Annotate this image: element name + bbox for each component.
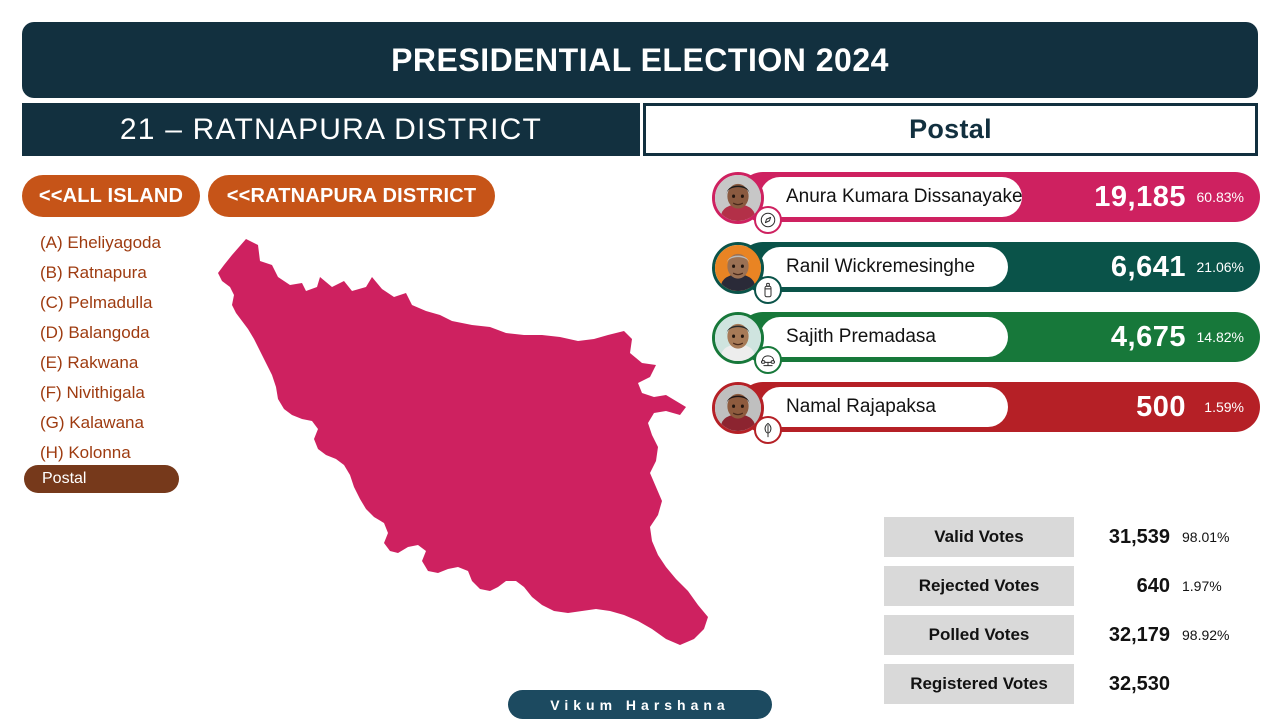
sidebar-item-postal[interactable]: Postal — [24, 465, 179, 493]
telephone-icon — [754, 346, 782, 374]
division-letter: (B) — [40, 263, 63, 282]
district-button-label: <<RATNAPURA DISTRICT — [227, 185, 477, 208]
all-island-label: <<ALL ISLAND — [39, 185, 183, 208]
division-letter: (G) — [40, 413, 65, 432]
candidate-vote-percent: 60.83% — [1196, 189, 1244, 205]
page-title-bar: PRESIDENTIAL ELECTION 2024 — [22, 22, 1258, 98]
division-name: Kalawana — [65, 413, 144, 432]
candidate-name: Namal Rajapaksa — [786, 396, 936, 418]
division-name: Ratnapura — [63, 263, 147, 282]
vote-summary-row: Rejected Votes6401.97% — [884, 566, 1260, 614]
page-title: PRESIDENTIAL ELECTION 2024 — [391, 42, 889, 79]
author-watermark: Vikum Harshana — [508, 690, 772, 719]
candidate-vote-count: 4,675 — [1111, 321, 1186, 354]
district-map[interactable] — [180, 215, 725, 695]
vote-summary-value: 640 — [1080, 566, 1170, 606]
compass-icon — [754, 206, 782, 234]
division-name: Rakwana — [63, 353, 139, 372]
candidate-vote-count: 6,641 — [1111, 251, 1186, 284]
division-name: Balangoda — [64, 323, 150, 342]
division-letter: (A) — [40, 233, 63, 252]
division-name: Eheliyagoda — [63, 233, 161, 252]
vote-summary-row: Polled Votes32,17998.92% — [884, 615, 1260, 663]
candidate-vote-percent: 21.06% — [1196, 259, 1244, 275]
vote-summary-percent: 98.01% — [1182, 517, 1229, 557]
gas-cylinder-icon — [754, 276, 782, 304]
vote-summary-value: 32,179 — [1080, 615, 1170, 655]
candidate-result-row[interactable]: 6,64121.06%Ranil Wickremesinghe — [712, 242, 1260, 292]
candidate-results-list: 19,18560.83%Anura Kumara Dissanayake6,64… — [712, 172, 1260, 437]
back-to-district-button[interactable]: <<RATNAPURA DISTRICT — [208, 175, 495, 217]
vote-summary-label: Polled Votes — [884, 615, 1074, 655]
candidate-result-row[interactable]: 4,67514.82%Sajith Premadasa — [712, 312, 1260, 362]
postal-pill-label: Postal — [42, 470, 86, 488]
election-results-page: PRESIDENTIAL ELECTION 2024 21 – RATNAPUR… — [0, 0, 1280, 720]
vote-summary-percent: 98.92% — [1182, 615, 1229, 655]
division-name: Pelmadulla — [64, 293, 153, 312]
vote-summary-row: Valid Votes31,53998.01% — [884, 517, 1260, 565]
vote-summary-label: Valid Votes — [884, 517, 1074, 557]
candidate-name-pill: Ranil Wickremesinghe — [760, 247, 1008, 287]
ratnapura-district-shape[interactable] — [218, 239, 708, 645]
scope-box: Postal — [643, 103, 1258, 156]
candidate-name-pill: Sajith Premadasa — [760, 317, 1008, 357]
candidate-name-pill: Namal Rajapaksa — [760, 387, 1008, 427]
vote-summary-label: Rejected Votes — [884, 566, 1074, 606]
vote-summary-label: Registered Votes — [884, 664, 1074, 704]
vote-summary-value: 31,539 — [1080, 517, 1170, 557]
vote-summary-table: Valid Votes31,53998.01%Rejected Votes640… — [884, 517, 1260, 713]
district-map-svg — [180, 215, 725, 695]
division-letter: (F) — [40, 383, 62, 402]
vote-summary-label-text: Polled Votes — [929, 625, 1030, 645]
vote-summary-label-text: Valid Votes — [934, 527, 1023, 547]
division-letter: (H) — [40, 443, 64, 462]
candidate-vote-count: 19,185 — [1094, 181, 1186, 214]
division-letter: (C) — [40, 293, 64, 312]
vote-summary-percent: 1.97% — [1182, 566, 1222, 606]
vote-summary-row: Registered Votes32,530 — [884, 664, 1260, 712]
candidate-name: Ranil Wickremesinghe — [786, 256, 975, 278]
candidate-vote-count: 500 — [1136, 391, 1186, 424]
vote-summary-label-text: Rejected Votes — [919, 576, 1040, 596]
division-letter: (E) — [40, 353, 63, 372]
watermark-text: Vikum Harshana — [550, 697, 729, 713]
candidate-name: Sajith Premadasa — [786, 326, 936, 348]
candidate-name-pill: Anura Kumara Dissanayake — [760, 177, 1022, 217]
district-title: 21 – RATNAPURA DISTRICT — [120, 113, 542, 147]
district-title-bar: 21 – RATNAPURA DISTRICT — [22, 103, 640, 156]
division-letter: (D) — [40, 323, 64, 342]
candidate-vote-percent: 14.82% — [1196, 329, 1244, 345]
candidate-name: Anura Kumara Dissanayake — [786, 186, 1023, 208]
flower-bud-icon — [754, 416, 782, 444]
vote-summary-label-text: Registered Votes — [910, 674, 1048, 694]
candidate-result-row[interactable]: 19,18560.83%Anura Kumara Dissanayake — [712, 172, 1260, 222]
scope-label: Postal — [909, 114, 992, 145]
division-name: Kolonna — [64, 443, 131, 462]
back-to-all-island-button[interactable]: <<ALL ISLAND — [22, 175, 200, 217]
candidate-vote-percent: 1.59% — [1196, 399, 1244, 415]
vote-summary-value: 32,530 — [1080, 664, 1170, 704]
division-name: Nivithigala — [62, 383, 145, 402]
candidate-result-row[interactable]: 5001.59%Namal Rajapaksa — [712, 382, 1260, 432]
